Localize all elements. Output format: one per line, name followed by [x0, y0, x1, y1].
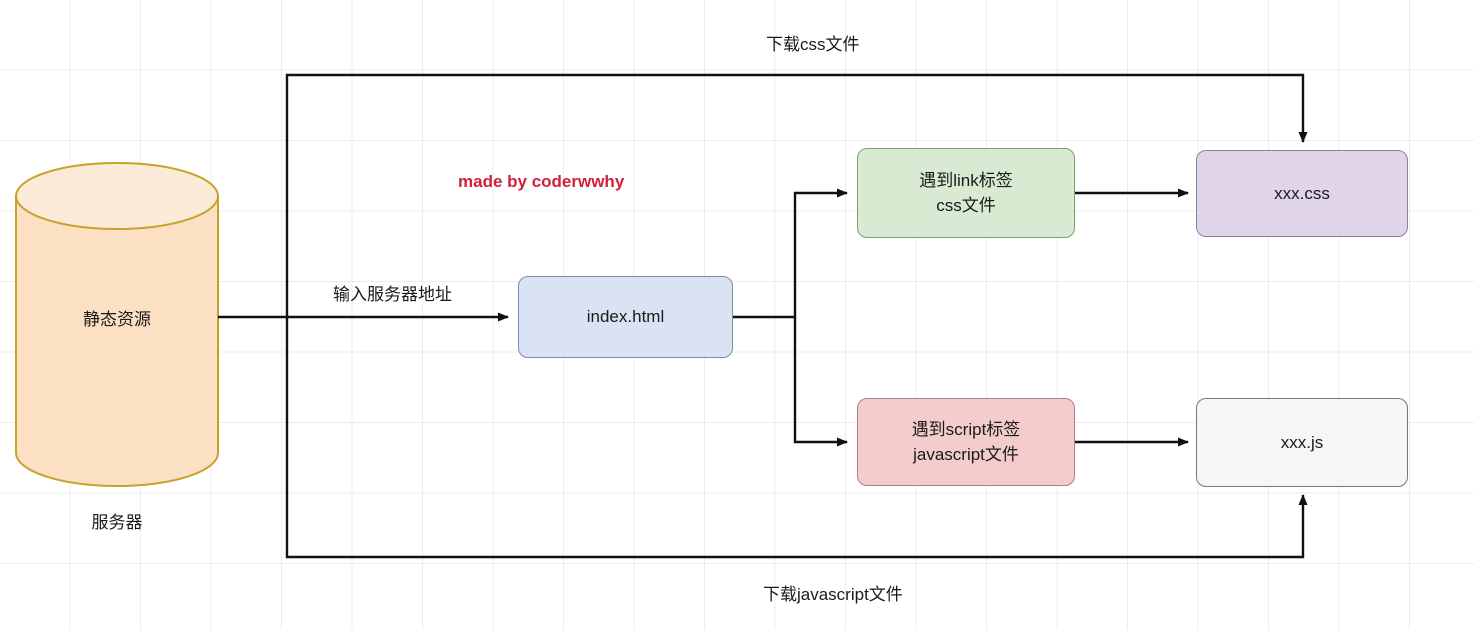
node-js-file-label: xxx.js — [1281, 430, 1324, 456]
node-link-tag-line2: css文件 — [919, 193, 1013, 219]
edge-download-js — [287, 317, 1303, 557]
edge-index-to-script — [795, 317, 847, 442]
edge-index-to-link — [733, 193, 847, 317]
diagram-canvas: 静态资源 服务器 made by coderwwhy 下载css文件 下载jav… — [0, 0, 1474, 630]
edge-label-enter-server-address: 输入服务器地址 — [333, 280, 452, 305]
connector-layer — [0, 0, 1474, 630]
node-index-html-label: index.html — [587, 304, 664, 330]
server-caption: 服务器 — [16, 508, 218, 533]
node-script-tag-line1: 遇到script标签 — [912, 417, 1021, 443]
watermark-text: made by coderwwhy — [458, 172, 624, 192]
node-script-tag[interactable]: 遇到script标签 javascript文件 — [857, 398, 1075, 486]
node-link-tag-line1: 遇到link标签 — [919, 168, 1013, 194]
node-link-tag[interactable]: 遇到link标签 css文件 — [857, 148, 1075, 238]
edge-label-download-css: 下载css文件 — [766, 30, 860, 55]
server-cylinder-label: 静态资源 — [16, 305, 218, 330]
node-js-file[interactable]: xxx.js — [1196, 398, 1408, 487]
edge-label-download-javascript: 下载javascript文件 — [763, 580, 903, 605]
node-script-tag-line2: javascript文件 — [912, 442, 1021, 468]
node-css-file-label: xxx.css — [1274, 181, 1330, 207]
node-index-html[interactable]: index.html — [518, 276, 733, 358]
node-css-file[interactable]: xxx.css — [1196, 150, 1408, 237]
